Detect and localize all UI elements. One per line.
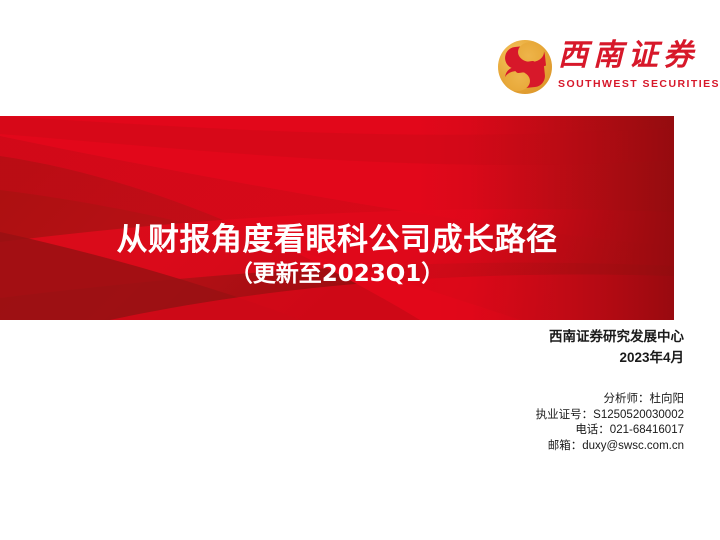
brand-name-cn: 西南证券 <box>558 38 698 74</box>
analyst-license-line: 执业证号：S1250520030002 <box>536 408 684 424</box>
banner-text-group: 从财报角度看眼科公司成长路径 （更新至2023Q1） <box>0 116 674 320</box>
analyst-phone-line: 电话：021-68416017 <box>536 423 684 439</box>
brand-name-en: SOUTHWEST SECURITIES <box>558 78 720 90</box>
organization-name: 西南证券研究发展中心 <box>549 326 684 347</box>
publication-date: 2023年4月 <box>549 347 684 368</box>
logo-notch-upper-shape <box>518 42 544 62</box>
analyst-email-line: 邮箱：duxy@swsc.com.cn <box>536 439 684 455</box>
organization-block: 西南证券研究发展中心 2023年4月 <box>549 326 684 368</box>
page-subtitle: （更新至2023Q1） <box>230 259 445 289</box>
logo-notch-lower-shape <box>504 71 530 91</box>
title-banner: 从财报角度看眼科公司成长路径 （更新至2023Q1） <box>0 116 674 320</box>
page-title: 从财报角度看眼科公司成长路径 <box>117 221 558 259</box>
slide-cover-page: { "brand": { "logo_cn": "西南证券", "logo_en… <box>0 0 720 540</box>
brand-logo: 西南证券 SOUTHWEST SECURITIES <box>498 38 694 100</box>
southwest-securities-circle-logo-icon <box>498 40 552 94</box>
analyst-contact-block: 分析师：杜向阳 执业证号：S1250520030002 电话：021-68416… <box>536 392 684 454</box>
analyst-name-line: 分析师：杜向阳 <box>536 392 684 408</box>
